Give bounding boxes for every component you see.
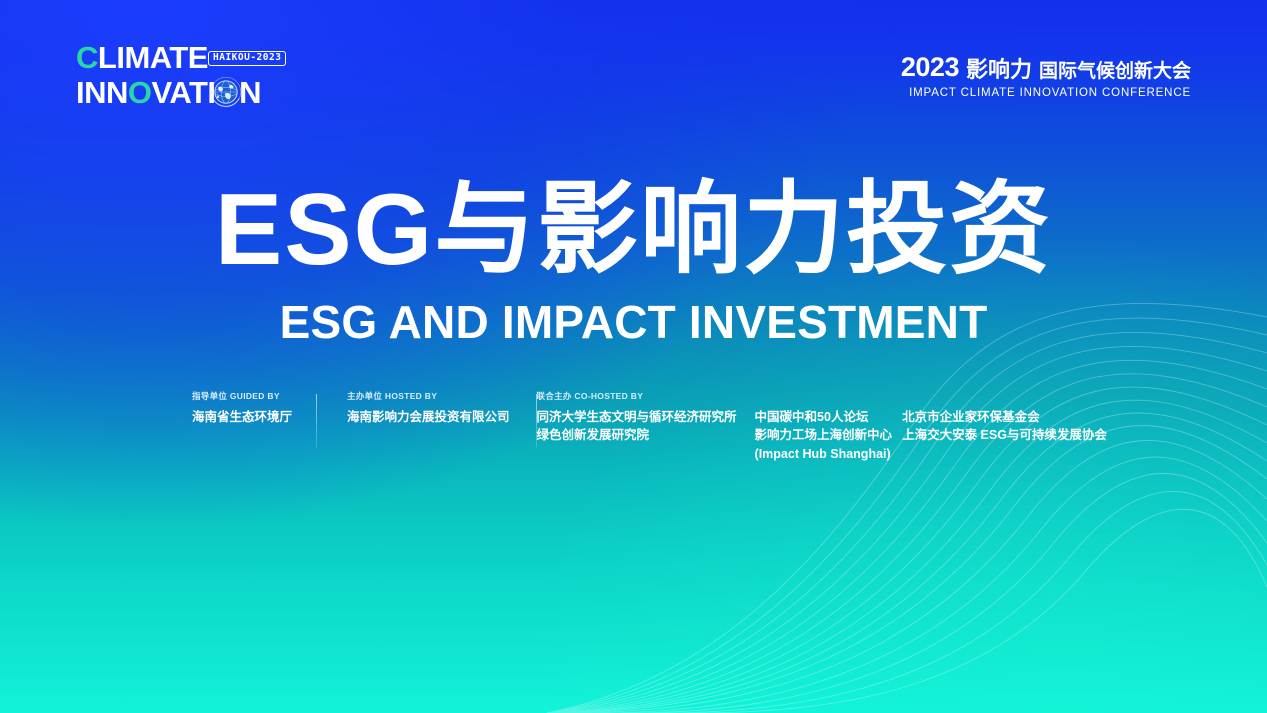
credits-org-name: 绿色创新发展研究院 [537, 426, 737, 445]
credits-bar: 指导单位 GUIDED BY海南省生态环境厅主办单位 HOSTED BY海南影响… [168, 392, 1107, 463]
page-title: ESG与影响力投资 [0, 176, 1267, 285]
credits-names: 海南省生态环境厅 [192, 408, 292, 427]
event-logo-left: CLIMATE HAIKOU-2023 INNOVATION [76, 42, 376, 114]
credits-org-name: 北京市企业家环保基金会 [902, 408, 1107, 427]
credits-org-group: 海南影响力会展投资有限公司 [347, 408, 510, 427]
credits-org-group: 海南省生态环境厅 [192, 408, 292, 427]
logo-line-innovation: INNOVATION [76, 77, 376, 108]
credits-label: 联合主办 CO-HOSTED BY [537, 392, 1107, 401]
conference-name-en: IMPACT CLIMATE INNOVATION CONFERENCE [901, 87, 1191, 99]
logo-innovation-part2: VATI [152, 75, 216, 110]
credits-org-name: 海南影响力会展投资有限公司 [347, 408, 510, 427]
credits-column-2: 主办单位 HOSTED BY海南影响力会展投资有限公司 [317, 392, 536, 426]
logo-climate-rest: LIMATE [98, 40, 208, 75]
page-subtitle: ESG AND IMPACT INVESTMENT [0, 299, 1267, 345]
credits-label: 主办单位 HOSTED BY [347, 392, 510, 401]
credits-org-name: 同济大学生态文明与循环经济研究所 [537, 408, 737, 427]
credits-org-group: 中国碳中和50人论坛影响力工场上海创新中心(Impact Hub Shangha… [755, 408, 893, 464]
credits-column-3: 联合主办 CO-HOSTED BY同济大学生态文明与循环经济研究所绿色创新发展研… [537, 392, 1107, 463]
logo-innovation-part1: INN [76, 75, 128, 110]
credits-org-name: 上海交大安泰 ESG与可持续发展协会 [902, 426, 1107, 445]
credits-org-name: 海南省生态环境厅 [192, 408, 292, 427]
conference-logo-right: 2023 影响力 国际气候创新大会 IMPACT CLIMATE INNOVAT… [901, 54, 1191, 99]
credits-org-group: 北京市企业家环保基金会上海交大安泰 ESG与可持续发展协会 [902, 408, 1107, 445]
logo-accent-o: O [128, 75, 152, 110]
conference-year: 2023 [901, 54, 959, 81]
logo-accent-c: C [76, 40, 98, 75]
credits-org-name: (Impact Hub Shanghai) [755, 445, 893, 464]
credits-column-1: 指导单位 GUIDED BY海南省生态环境厅 [168, 392, 316, 426]
globe-icon [209, 75, 243, 109]
logo-badge-haikou-2023: HAIKOU-2023 [208, 51, 286, 66]
conference-logo-row-1: 2023 影响力 国际气候创新大会 [901, 54, 1191, 81]
conference-name-cn: 国际气候创新大会 [1039, 62, 1191, 81]
logo-line-climate: CLIMATE HAIKOU-2023 [76, 42, 376, 73]
credits-org-name: 中国碳中和50人论坛 [755, 408, 893, 427]
credits-org-name: 影响力工场上海创新中心 [755, 426, 893, 445]
poster-stage: CLIMATE HAIKOU-2023 INNOVATION 2023 影响力 [0, 0, 1267, 713]
conference-name-cn-strong: 影响力 [966, 59, 1032, 81]
credits-names: 同济大学生态文明与循环经济研究所绿色创新发展研究院中国碳中和50人论坛影响力工场… [537, 408, 1107, 464]
credits-org-group: 同济大学生态文明与循环经济研究所绿色创新发展研究院 [537, 408, 737, 445]
hero-block: ESG与影响力投资 ESG AND IMPACT INVESTMENT [0, 176, 1267, 345]
credits-names: 海南影响力会展投资有限公司 [347, 408, 510, 427]
credits-label: 指导单位 GUIDED BY [192, 392, 292, 401]
